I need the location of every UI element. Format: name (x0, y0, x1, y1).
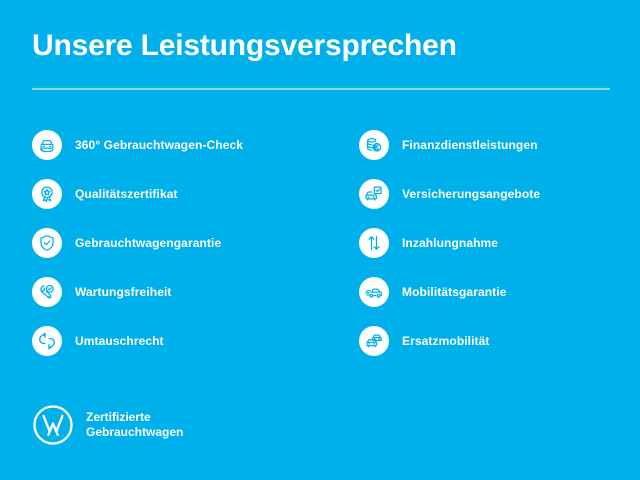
car-document-check-icon (359, 179, 389, 209)
two-cars-icon (359, 326, 389, 356)
feature-label: Qualitätszertifikat (75, 187, 178, 201)
feature-label: 360° Gebrauchtwagen-Check (75, 138, 243, 152)
feature-item[interactable]: Qualitätszertifikat (32, 169, 330, 218)
wrench-check-icon (32, 277, 62, 307)
quality-award-icon (32, 179, 62, 209)
up-down-arrows-icon (359, 228, 389, 258)
feature-label: Versicherungsangebote (402, 187, 540, 201)
feature-label: Inzahlungnahme (402, 236, 498, 250)
title-divider (32, 88, 610, 90)
car-motion-icon (359, 277, 389, 307)
car-360-check-icon (32, 130, 62, 160)
feature-item[interactable]: Gebrauchtwagengarantie (32, 218, 330, 267)
volkswagen-logo (32, 404, 74, 446)
brand-lockup: Zertifizierte Gebrauchtwagen (32, 404, 183, 446)
feature-column-left: 360° Gebrauchtwagen-Check Qualitätszerti… (0, 120, 330, 365)
brand-line-2: Gebrauchtwagen (86, 425, 183, 440)
feature-item[interactable]: Umtauschrecht (32, 316, 330, 365)
feature-label: Gebrauchtwagengarantie (75, 236, 221, 250)
feature-label: Ersatzmobilität (402, 334, 490, 348)
header: Unsere Leistungsversprechen (32, 28, 610, 64)
feature-item[interactable]: Ersatzmobilität (359, 316, 640, 365)
feature-item[interactable]: Inzahlungnahme (359, 218, 640, 267)
feature-item[interactable]: Mobilitätsgarantie (359, 267, 640, 316)
exchange-arrows-icon (32, 326, 62, 356)
feature-item[interactable]: Finanzdienstleistungen (359, 120, 640, 169)
feature-label: Wartungsfreiheit (75, 285, 172, 299)
feature-item[interactable]: 360° Gebrauchtwagen-Check (32, 120, 330, 169)
feature-item[interactable]: Wartungsfreiheit (32, 267, 330, 316)
feature-item[interactable]: Versicherungsangebote (359, 169, 640, 218)
brand-text: Zertifizierte Gebrauchtwagen (86, 410, 183, 440)
feature-column-right: Finanzdienstleistungen Versicherungsange… (330, 120, 640, 365)
feature-label: Finanzdienstleistungen (402, 138, 538, 152)
page-title: Unsere Leistungsversprechen (32, 28, 610, 64)
coins-euro-icon (359, 130, 389, 160)
feature-columns: 360° Gebrauchtwagen-Check Qualitätszerti… (0, 120, 640, 365)
feature-label: Mobilitätsgarantie (402, 285, 506, 299)
shield-check-icon (32, 228, 62, 258)
promise-panel: Unsere Leistungsversprechen 360° Gebrauc… (0, 0, 640, 480)
brand-line-1: Zertifizierte (86, 410, 183, 425)
feature-label: Umtauschrecht (75, 334, 164, 348)
